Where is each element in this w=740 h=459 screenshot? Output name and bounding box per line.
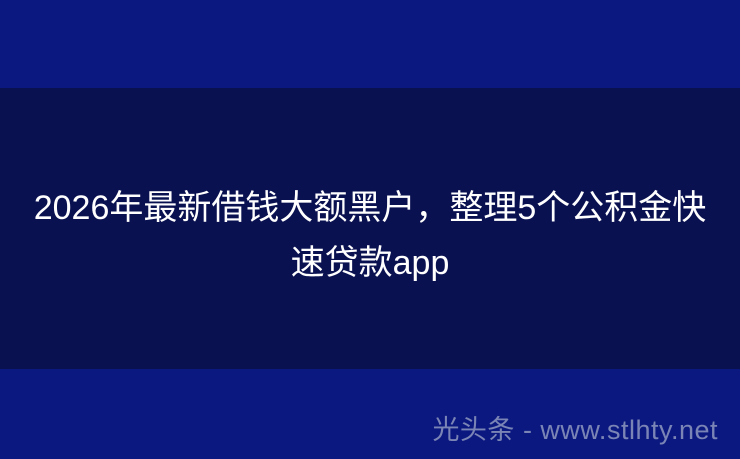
site-watermark: 光头条 - www.stlhty.net bbox=[432, 413, 718, 447]
top-color-band bbox=[0, 0, 740, 88]
banner-headline: 2026年最新借钱大额黑户，整理5个公积金快速贷款app bbox=[30, 181, 710, 291]
promo-banner: 2026年最新借钱大额黑户，整理5个公积金快速贷款app 光头条 - www.s… bbox=[0, 0, 740, 459]
